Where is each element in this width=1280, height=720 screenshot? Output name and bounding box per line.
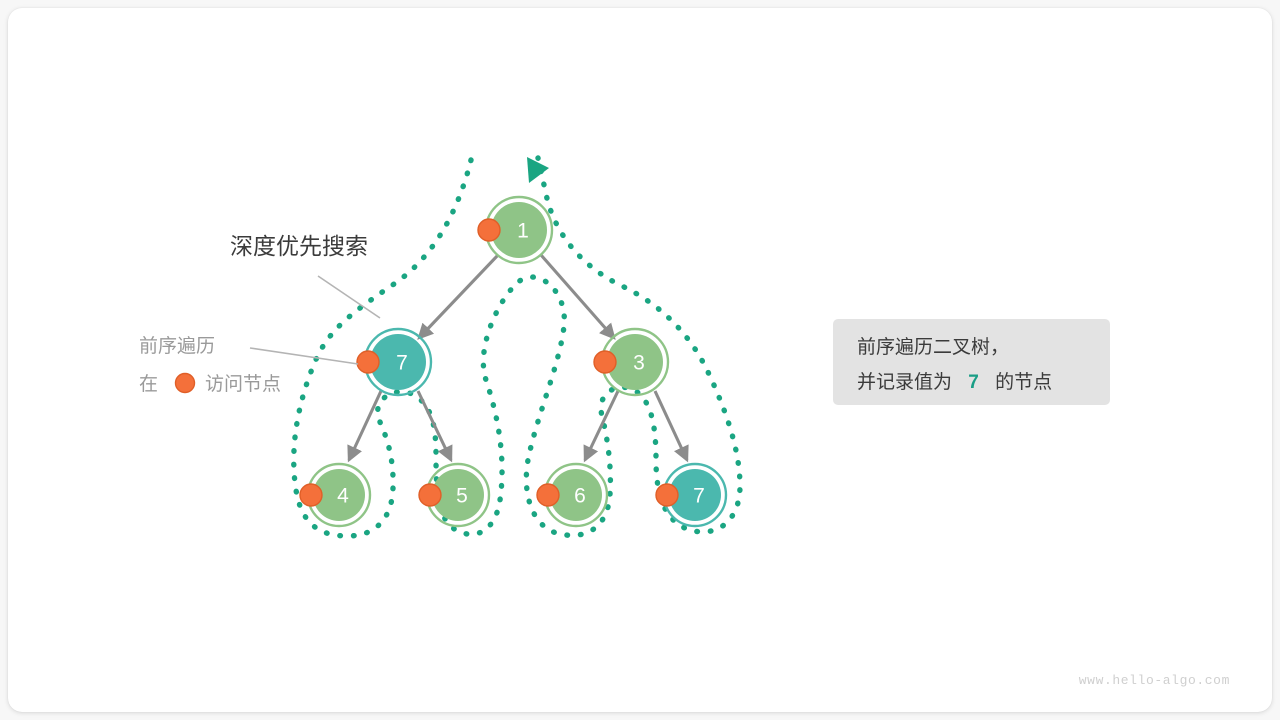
legend-leader-line: [250, 348, 358, 364]
node-value: 3: [633, 352, 645, 375]
legend-line-1: 前序遍历: [139, 335, 215, 357]
teal-arrowhead-icon: [527, 157, 549, 183]
visit-marker-icon: [656, 484, 678, 506]
title-leader-line: [318, 276, 380, 318]
node-value: 7: [396, 352, 408, 375]
figure-card: 1734567 深度优先搜索 前序遍历 在 访问节点 前序遍历二叉树， 并记录值…: [8, 8, 1272, 712]
edge-3-6: [585, 391, 618, 460]
tree-node: 3: [594, 329, 668, 395]
node-value: 4: [337, 485, 349, 508]
tree-node: 6: [537, 464, 607, 526]
legend-line-2-prefix: 在: [139, 373, 158, 395]
visit-marker-icon: [537, 484, 559, 506]
edge-1-3: [541, 255, 614, 338]
info-box-accent-value: 7: [968, 372, 979, 393]
visit-marker-icon: [594, 351, 616, 373]
figure-title: 深度优先搜索: [230, 233, 368, 259]
info-box-line-2: 并记录值为 7 的节点: [857, 371, 1052, 393]
info-box-line-1: 前序遍历二叉树，: [857, 336, 1009, 358]
edge-7-4: [349, 391, 381, 460]
node-value: 6: [574, 485, 586, 508]
visit-marker-icon: [357, 351, 379, 373]
tree-traversal-diagram: 1734567 深度优先搜索 前序遍历 在 访问节点 前序遍历二叉树， 并记录值…: [8, 8, 1272, 712]
tree-node: 7: [656, 464, 726, 526]
watermark: www.hello-algo.com: [1079, 673, 1230, 688]
visit-marker-icon: [478, 219, 500, 241]
edge-1-7: [419, 255, 498, 338]
orange-dot-icon: [176, 374, 195, 393]
screenshot-stage: 1734567 深度优先搜索 前序遍历 在 访问节点 前序遍历二叉树， 并记录值…: [0, 0, 1280, 720]
tree-node: 7: [357, 329, 431, 395]
info-box: 前序遍历二叉树， 并记录值为 7 的节点: [833, 319, 1110, 405]
tree-node: 1: [478, 197, 552, 263]
legend-line-2-suffix: 访问节点: [205, 373, 281, 395]
visit-marker-icon: [300, 484, 322, 506]
info-box-line-2-suffix: 的节点: [995, 371, 1052, 393]
info-box-line-2-prefix: 并记录值为: [857, 371, 952, 393]
node-value: 5: [456, 485, 468, 508]
node-value: 1: [517, 220, 529, 243]
tree-node: 4: [300, 464, 370, 526]
tree-node: 5: [419, 464, 489, 526]
node-value: 7: [693, 485, 705, 508]
visit-marker-icon: [419, 484, 441, 506]
edge-3-7: [655, 391, 687, 460]
